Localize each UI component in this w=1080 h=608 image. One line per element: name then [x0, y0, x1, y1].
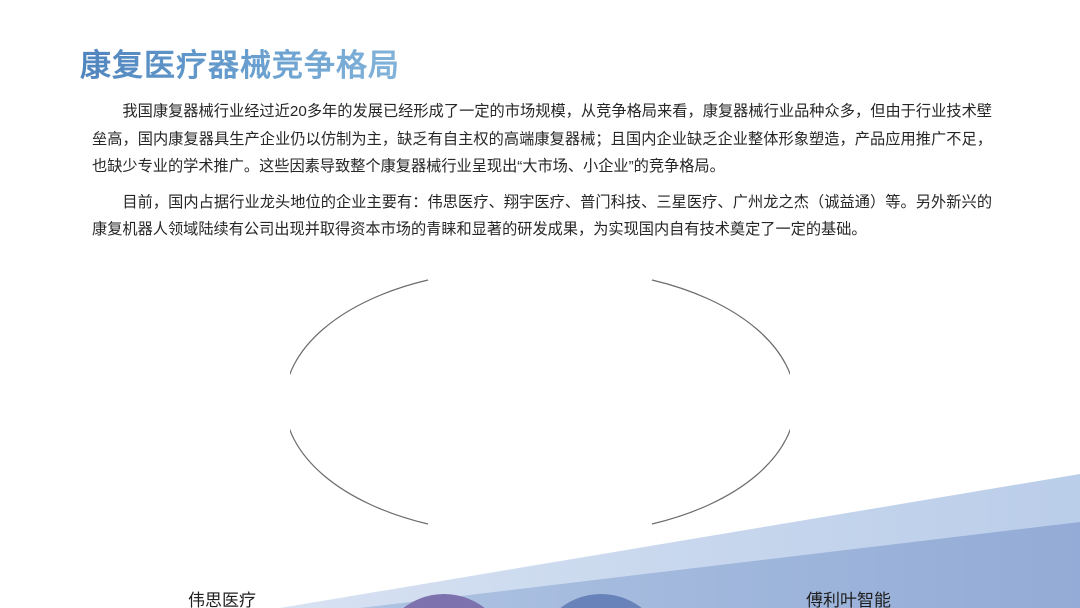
company-label-right-1: 傅利叶智能 [806, 586, 891, 608]
slide-canvas: 康复医疗器械竞争格局 我国康复器械行业经过近20多年的发展已经形成了一定的市场规… [0, 0, 1080, 608]
company-label-left-1: 伟思医疗 [188, 586, 256, 608]
orbit-ring-left-arc [290, 280, 428, 524]
page-title: 康复医疗器械竞争格局 [80, 40, 400, 85]
bubble-emerging-robotics-companies[interactable]: 康复机 器人新 兴企业 [535, 594, 667, 608]
paragraph-2: 目前，国内占据行业龙头地位的企业主要有：伟思医疗、翔宇医疗、普门科技、三星医疗、… [92, 189, 992, 244]
bubble-mature-listed-companies[interactable]: 成熟上 市企业 [378, 594, 510, 608]
competition-diagram: 成熟上 市企业 康复机 器人新 兴企业 伟思医疗 翔宇医疗 普门科技 傅利叶智能… [0, 262, 1080, 542]
body-text-block: 我国康复器械行业经过近20多年的发展已经形成了一定的市场规模，从竞争格局来看，康… [92, 98, 992, 244]
orbit-ring-right-arc [652, 280, 790, 524]
paragraph-1: 我国康复器械行业经过近20多年的发展已经形成了一定的市场规模，从竞争格局来看，康… [92, 98, 992, 181]
orbit-ring [290, 262, 790, 542]
